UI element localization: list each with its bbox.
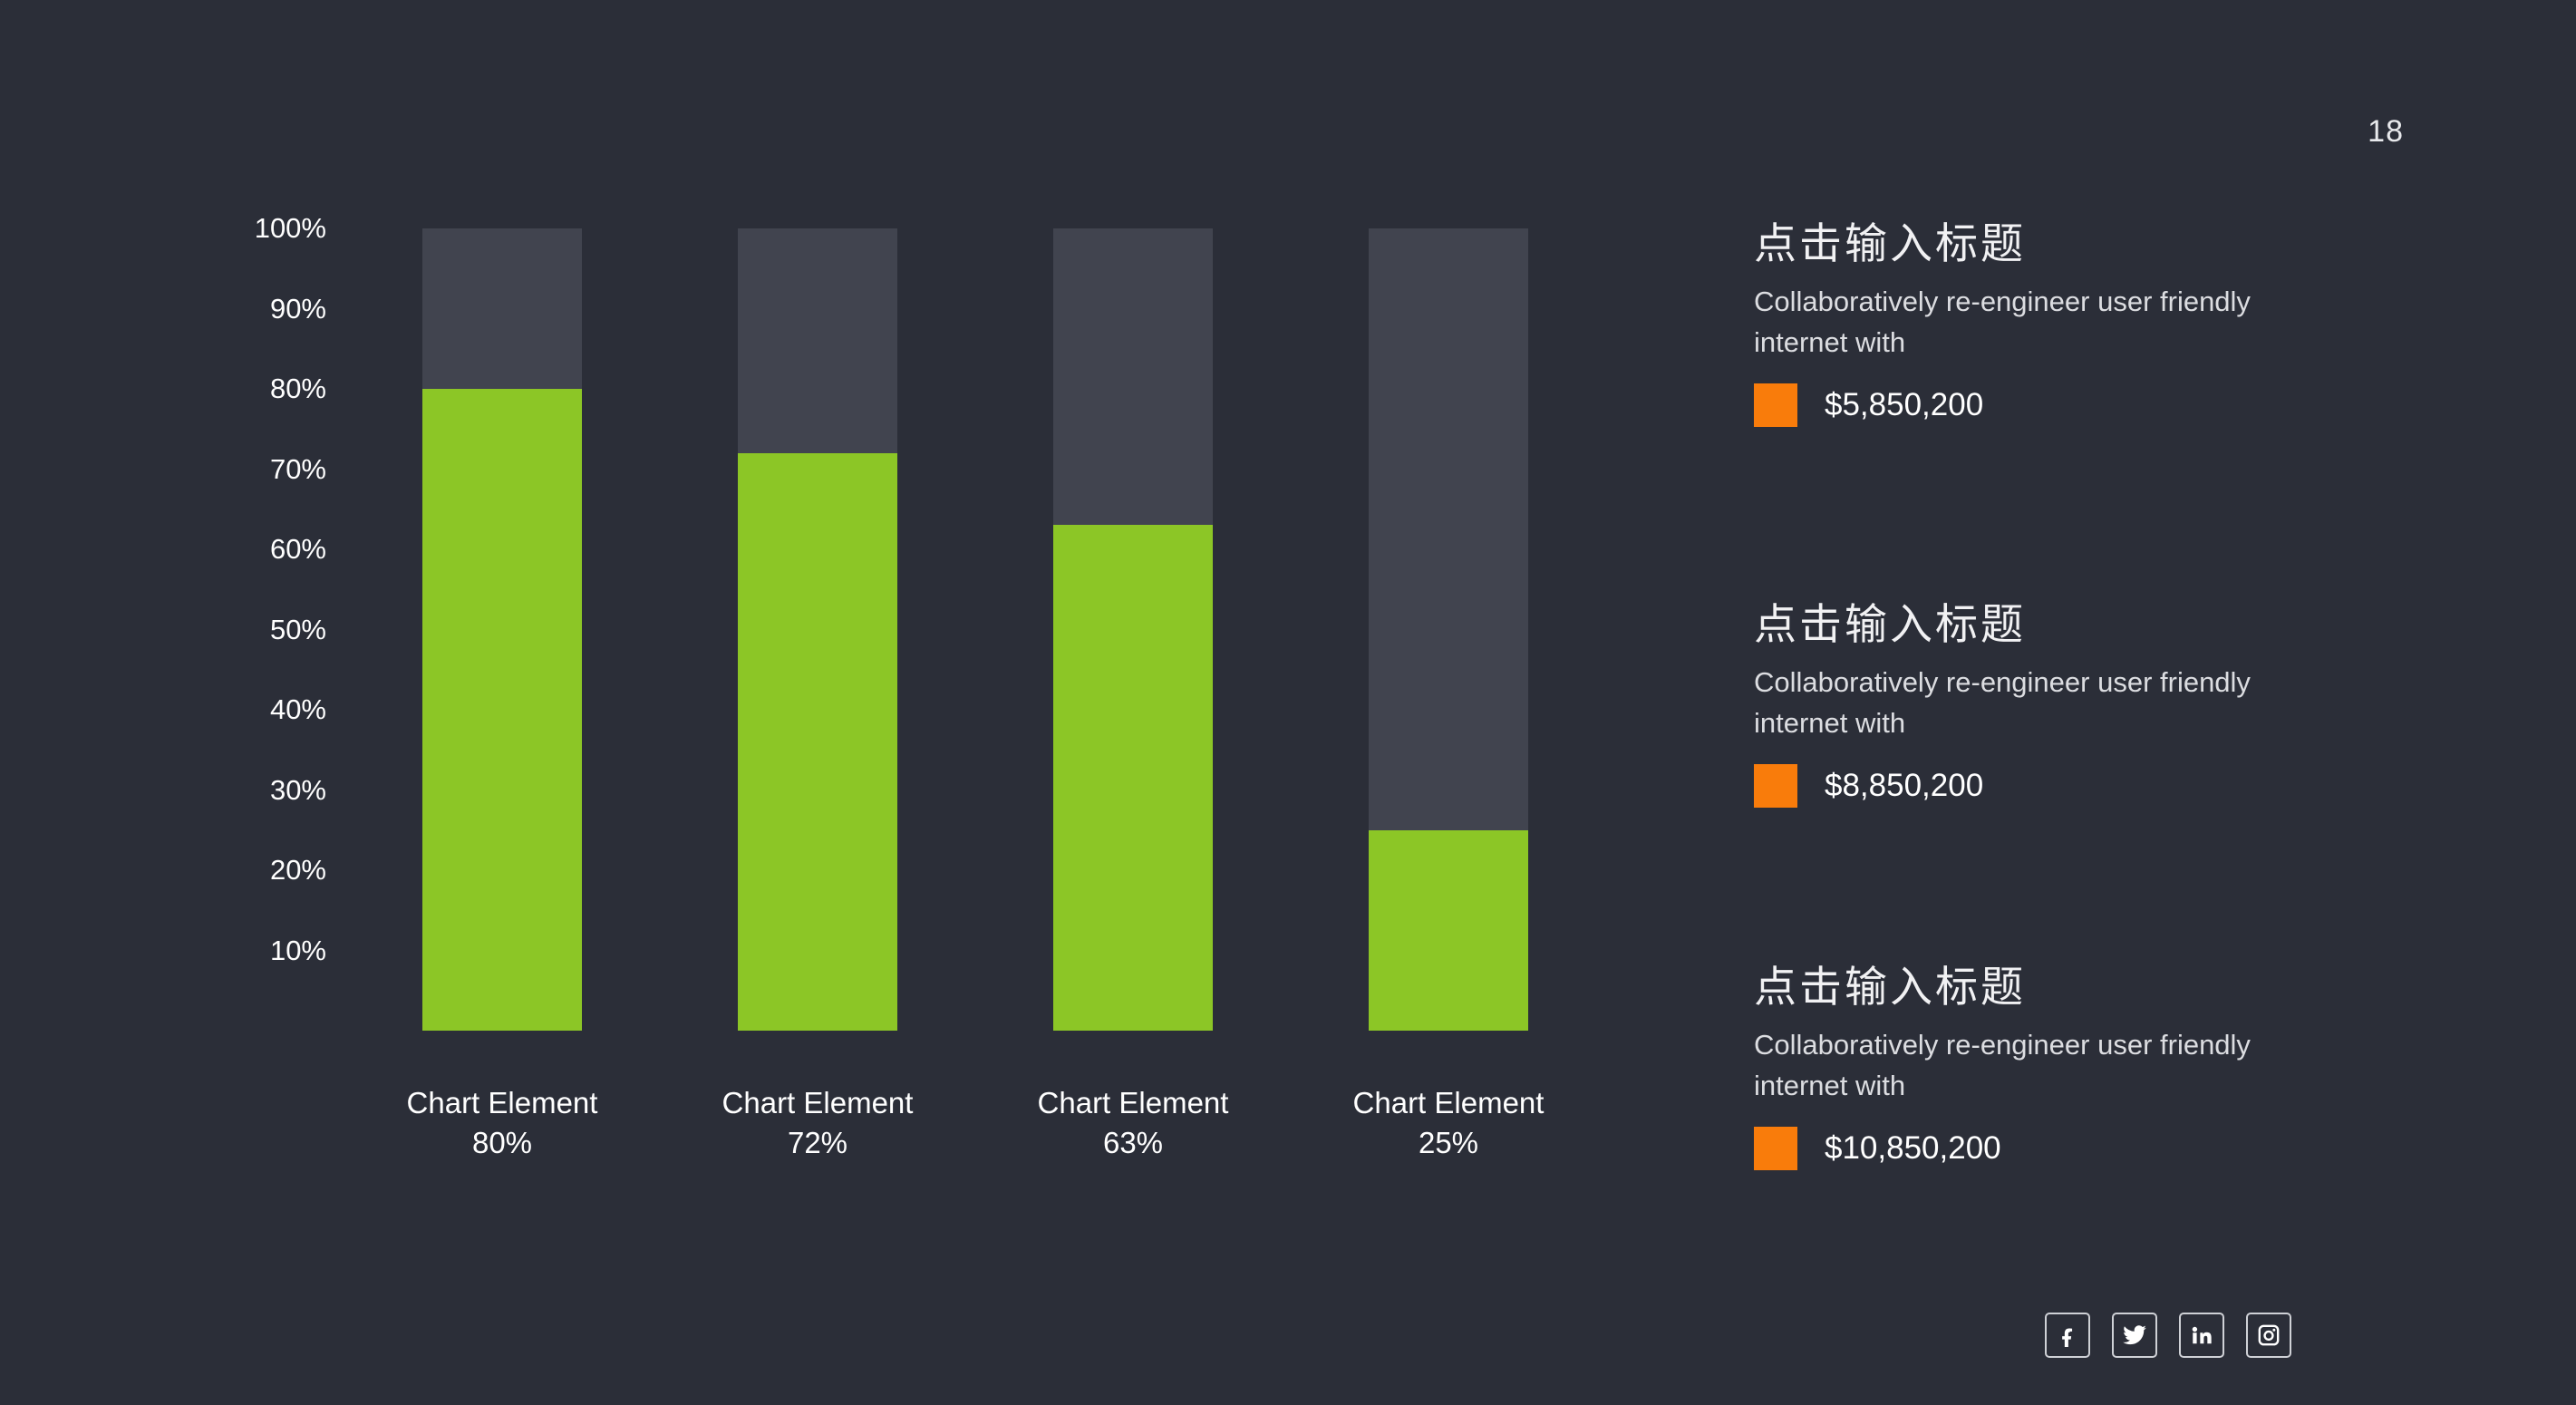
plot-area (422, 228, 1528, 1031)
x-axis-label: Chart Element25% (1314, 1083, 1583, 1163)
linkedin-icon[interactable] (2179, 1313, 2224, 1358)
bar-fill (738, 453, 897, 1031)
info-block-amount: $5,850,200 (1825, 387, 1983, 423)
y-axis-tick: 100% (181, 212, 326, 245)
info-block-title: 点击输入标题 (1754, 219, 2388, 269)
bar-fill (1369, 830, 1528, 1031)
x-axis-label-name: Chart Element (1353, 1086, 1545, 1119)
info-block-amount-row: $5,850,200 (1754, 383, 2388, 427)
bar-chart: 100%90%80%70%60%50%40%30%20%10% Chart El… (0, 0, 1632, 1224)
y-axis-tick: 60% (181, 533, 326, 566)
y-axis-tick: 20% (181, 854, 326, 887)
bar-fill (1053, 525, 1213, 1031)
info-block[interactable]: 点击输入标题Collaboratively re-engineer user f… (1754, 963, 2388, 1170)
y-axis: 100%90%80%70%60%50%40%30%20%10% (181, 208, 326, 1033)
info-block-description: Collaboratively re-engineer user friendl… (1754, 663, 2343, 744)
x-axis-label-value: 63% (999, 1123, 1267, 1163)
x-axis-label-name: Chart Element (407, 1086, 598, 1119)
x-axis-label-value: 72% (683, 1123, 952, 1163)
legend-color-swatch (1754, 383, 1797, 427)
y-axis-tick: 70% (181, 453, 326, 486)
x-axis-label-value: 25% (1314, 1123, 1583, 1163)
social-links[interactable] (2045, 1313, 2291, 1358)
bar-column[interactable] (422, 228, 582, 1031)
info-block-description: Collaboratively re-engineer user friendl… (1754, 282, 2343, 363)
info-block[interactable]: 点击输入标题Collaboratively re-engineer user f… (1754, 219, 2388, 427)
bar-column[interactable] (738, 228, 897, 1031)
info-column: 点击输入标题Collaboratively re-engineer user f… (1754, 0, 2461, 1269)
info-block[interactable]: 点击输入标题Collaboratively re-engineer user f… (1754, 600, 2388, 808)
info-block-amount: $8,850,200 (1825, 768, 1983, 804)
bar-column[interactable] (1053, 228, 1213, 1031)
y-axis-tick: 90% (181, 293, 326, 325)
info-block-amount: $10,850,200 (1825, 1130, 2001, 1167)
slide-canvas: 18 100%90%80%70%60%50%40%30%20%10% Chart… (0, 0, 2576, 1405)
x-axis-label-name: Chart Element (1038, 1086, 1229, 1119)
info-block-title: 点击输入标题 (1754, 963, 2388, 1013)
y-axis-tick: 10% (181, 935, 326, 967)
legend-color-swatch (1754, 764, 1797, 808)
facebook-icon[interactable] (2045, 1313, 2090, 1358)
info-block-amount-row: $10,850,200 (1754, 1127, 2388, 1170)
x-axis-label-value: 80% (368, 1123, 636, 1163)
bar-column[interactable] (1369, 228, 1528, 1031)
bar-fill (422, 389, 582, 1031)
x-axis-labels: Chart Element80%Chart Element72%Chart El… (422, 1083, 1528, 1201)
legend-color-swatch (1754, 1127, 1797, 1170)
y-axis-tick: 30% (181, 774, 326, 807)
twitter-icon[interactable] (2112, 1313, 2157, 1358)
info-block-description: Collaboratively re-engineer user friendl… (1754, 1025, 2343, 1107)
y-axis-tick: 40% (181, 693, 326, 726)
x-axis-label: Chart Element72% (683, 1083, 952, 1163)
x-axis-label-name: Chart Element (722, 1086, 914, 1119)
info-block-title: 点击输入标题 (1754, 600, 2388, 650)
y-axis-tick: 50% (181, 614, 326, 646)
info-block-amount-row: $8,850,200 (1754, 764, 2388, 808)
y-axis-tick: 80% (181, 373, 326, 405)
instagram-icon[interactable] (2246, 1313, 2291, 1358)
x-axis-label: Chart Element63% (999, 1083, 1267, 1163)
x-axis-label: Chart Element80% (368, 1083, 636, 1163)
